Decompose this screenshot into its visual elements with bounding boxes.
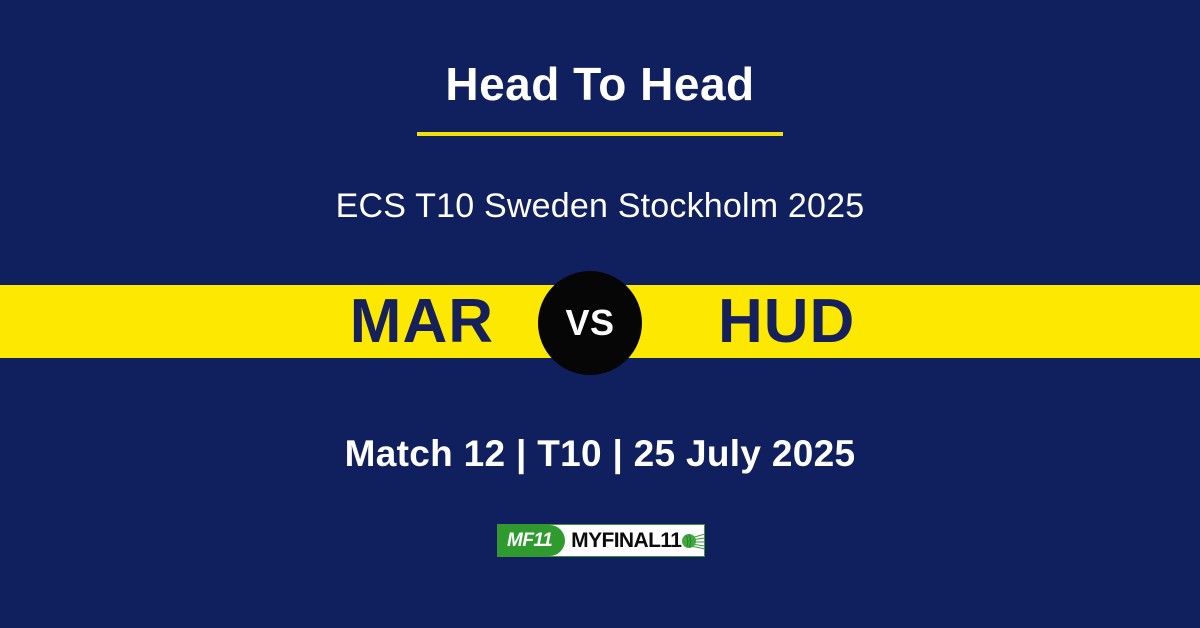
- logo-mark-badge: MF11: [498, 525, 565, 556]
- versus-badge: VS: [538, 271, 642, 375]
- logo-wordmark-text: MYFINAL11: [571, 530, 681, 551]
- page-title: Head To Head: [0, 60, 1200, 108]
- logo-wordmark: MYFINAL11: [565, 530, 705, 551]
- home-team-abbreviation: MAR: [170, 291, 600, 353]
- title-block: Head To Head: [0, 60, 1200, 136]
- head-to-head-banner: Head To Head ECS T10 Sweden Stockholm 20…: [0, 0, 1200, 628]
- cricket-ball-icon: [680, 531, 705, 551]
- title-underline-divider: [417, 132, 783, 136]
- match-details: Match 12 | T10 | 25 July 2025: [0, 433, 1200, 475]
- tournament-name: ECS T10 Sweden Stockholm 2025: [0, 187, 1200, 226]
- myfinal11-logo: MF11 MYFINAL11: [497, 524, 705, 557]
- versus-label: VS: [565, 305, 614, 341]
- logo-mark-text: MF11: [507, 531, 552, 550]
- away-team-abbreviation: HUD: [600, 291, 1030, 353]
